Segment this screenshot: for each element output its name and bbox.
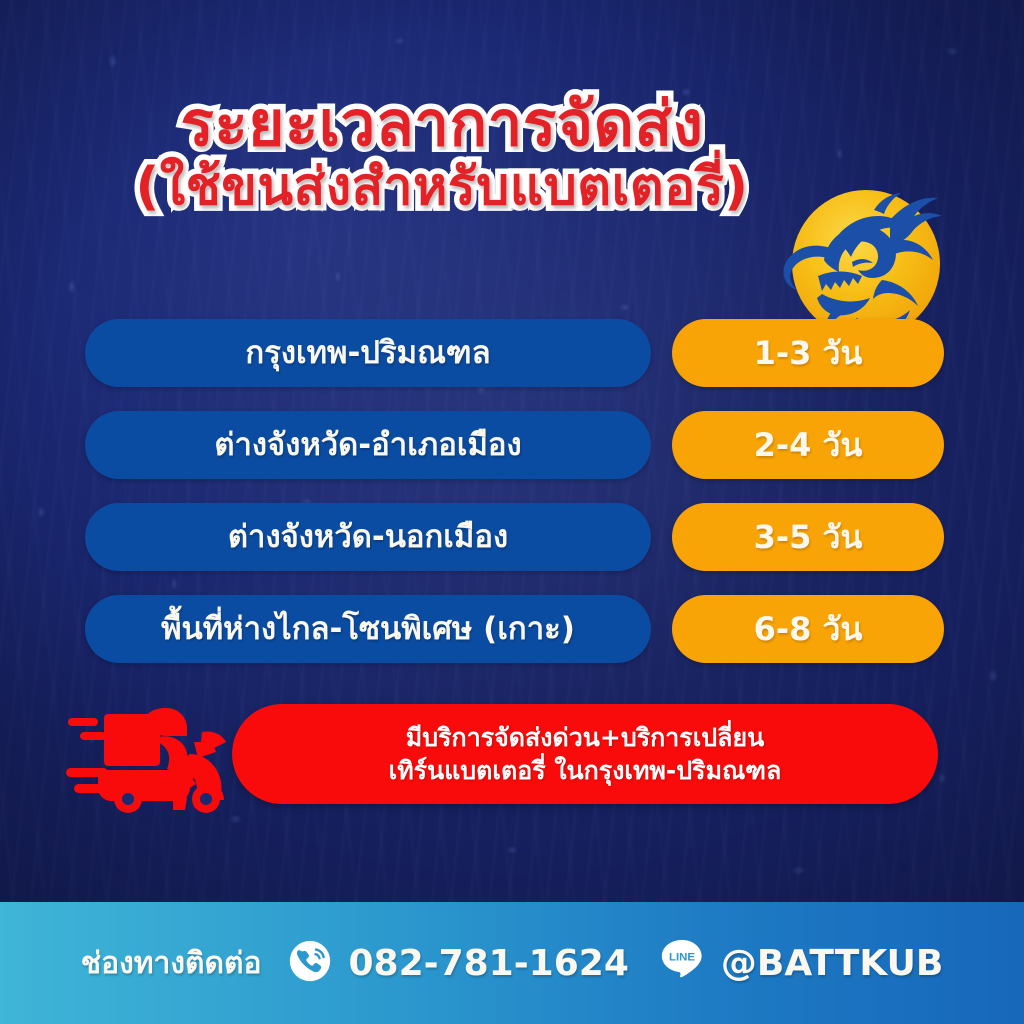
delivery-time-infographic: ระยะเวลาการจัดส่ง (ใช้ขนส่งสำหรับแบตเตอร… (0, 0, 1024, 1024)
delivery-duration-pill: 1-3 วัน (672, 319, 944, 387)
delivery-rows-list: กรุงเทพ-ปริมณฑล 1-3 วัน ต่างจังหวัด-อำเภ… (0, 319, 1024, 687)
delivery-area-pill: ต่างจังหวัด-นอกเมือง (85, 503, 651, 571)
delivery-area-label: พื้นที่ห่างไกล-โซนพิเศษ (เกาะ) (149, 614, 587, 645)
line-icon-text: LINE (669, 951, 695, 963)
delivery-duration-pill: 6-8 วัน (672, 595, 944, 663)
contact-footer-bar: ช่องทางติดต่อ 082-781-1624 LINE @BATTKUB (0, 902, 1024, 1024)
delivery-area-pill: ต่างจังหวัด-อำเภอเมือง (85, 411, 651, 479)
delivery-row: พื้นที่ห่างไกล-โซนพิเศษ (เกาะ) 6-8 วัน (0, 595, 1024, 663)
delivery-scooter-icon (66, 698, 242, 814)
contact-label: ช่องทางติดต่อ (81, 940, 262, 987)
contact-line-id[interactable]: @BATTKUB (721, 943, 943, 984)
delivery-duration-label: 1-3 วัน (754, 337, 863, 369)
title-primary: ระยะเวลาการจัดส่ง (112, 92, 772, 155)
delivery-area-pill: กรุงเทพ-ปริมณฑล (85, 319, 651, 387)
phone-ringing-icon (288, 939, 332, 988)
delivery-row: ต่างจังหวัด-อำเภอเมือง 2-4 วัน (0, 411, 1024, 479)
title-secondary: (ใช้ขนส่งสำหรับแบตเตอรี่) (112, 161, 772, 214)
delivery-duration-label: 3-5 วัน (754, 521, 863, 553)
header: ระยะเวลาการจัดส่ง (ใช้ขนส่งสำหรับแบตเตอร… (0, 92, 1024, 292)
delivery-area-label: ต่างจังหวัด-นอกเมือง (216, 522, 520, 553)
delivery-area-label: ต่างจังหวัด-อำเภอเมือง (202, 430, 533, 461)
page-title: ระยะเวลาการจัดส่ง (ใช้ขนส่งสำหรับแบตเตอร… (112, 92, 772, 214)
promo-text-line-2: เทิร์นแบตเตอรี่ ในกรุงเทพ-ปริมณฑล (389, 754, 782, 788)
express-service-promo: มีบริการจัดส่งด่วน+บริการเปลี่ยน เทิร์นแ… (0, 694, 1024, 816)
delivery-row: กรุงเทพ-ปริมณฑล 1-3 วัน (0, 319, 1024, 387)
promo-banner: มีบริการจัดส่งด่วน+บริการเปลี่ยน เทิร์นแ… (232, 704, 938, 804)
promo-text-line-1: มีบริการจัดส่งด่วน+บริการเปลี่ยน (406, 721, 764, 755)
delivery-duration-label: 2-4 วัน (754, 429, 863, 461)
delivery-area-label: กรุงเทพ-ปริมณฑล (233, 338, 502, 369)
delivery-row: ต่างจังหวัด-นอกเมือง 3-5 วัน (0, 503, 1024, 571)
delivery-area-pill: พื้นที่ห่างไกล-โซนพิเศษ (เกาะ) (85, 595, 651, 663)
delivery-duration-pill: 2-4 วัน (672, 411, 944, 479)
line-app-icon: LINE (660, 937, 704, 990)
delivery-duration-pill: 3-5 วัน (672, 503, 944, 571)
delivery-duration-label: 6-8 วัน (754, 613, 863, 645)
contact-phone-number[interactable]: 082-781-1624 (349, 943, 629, 984)
